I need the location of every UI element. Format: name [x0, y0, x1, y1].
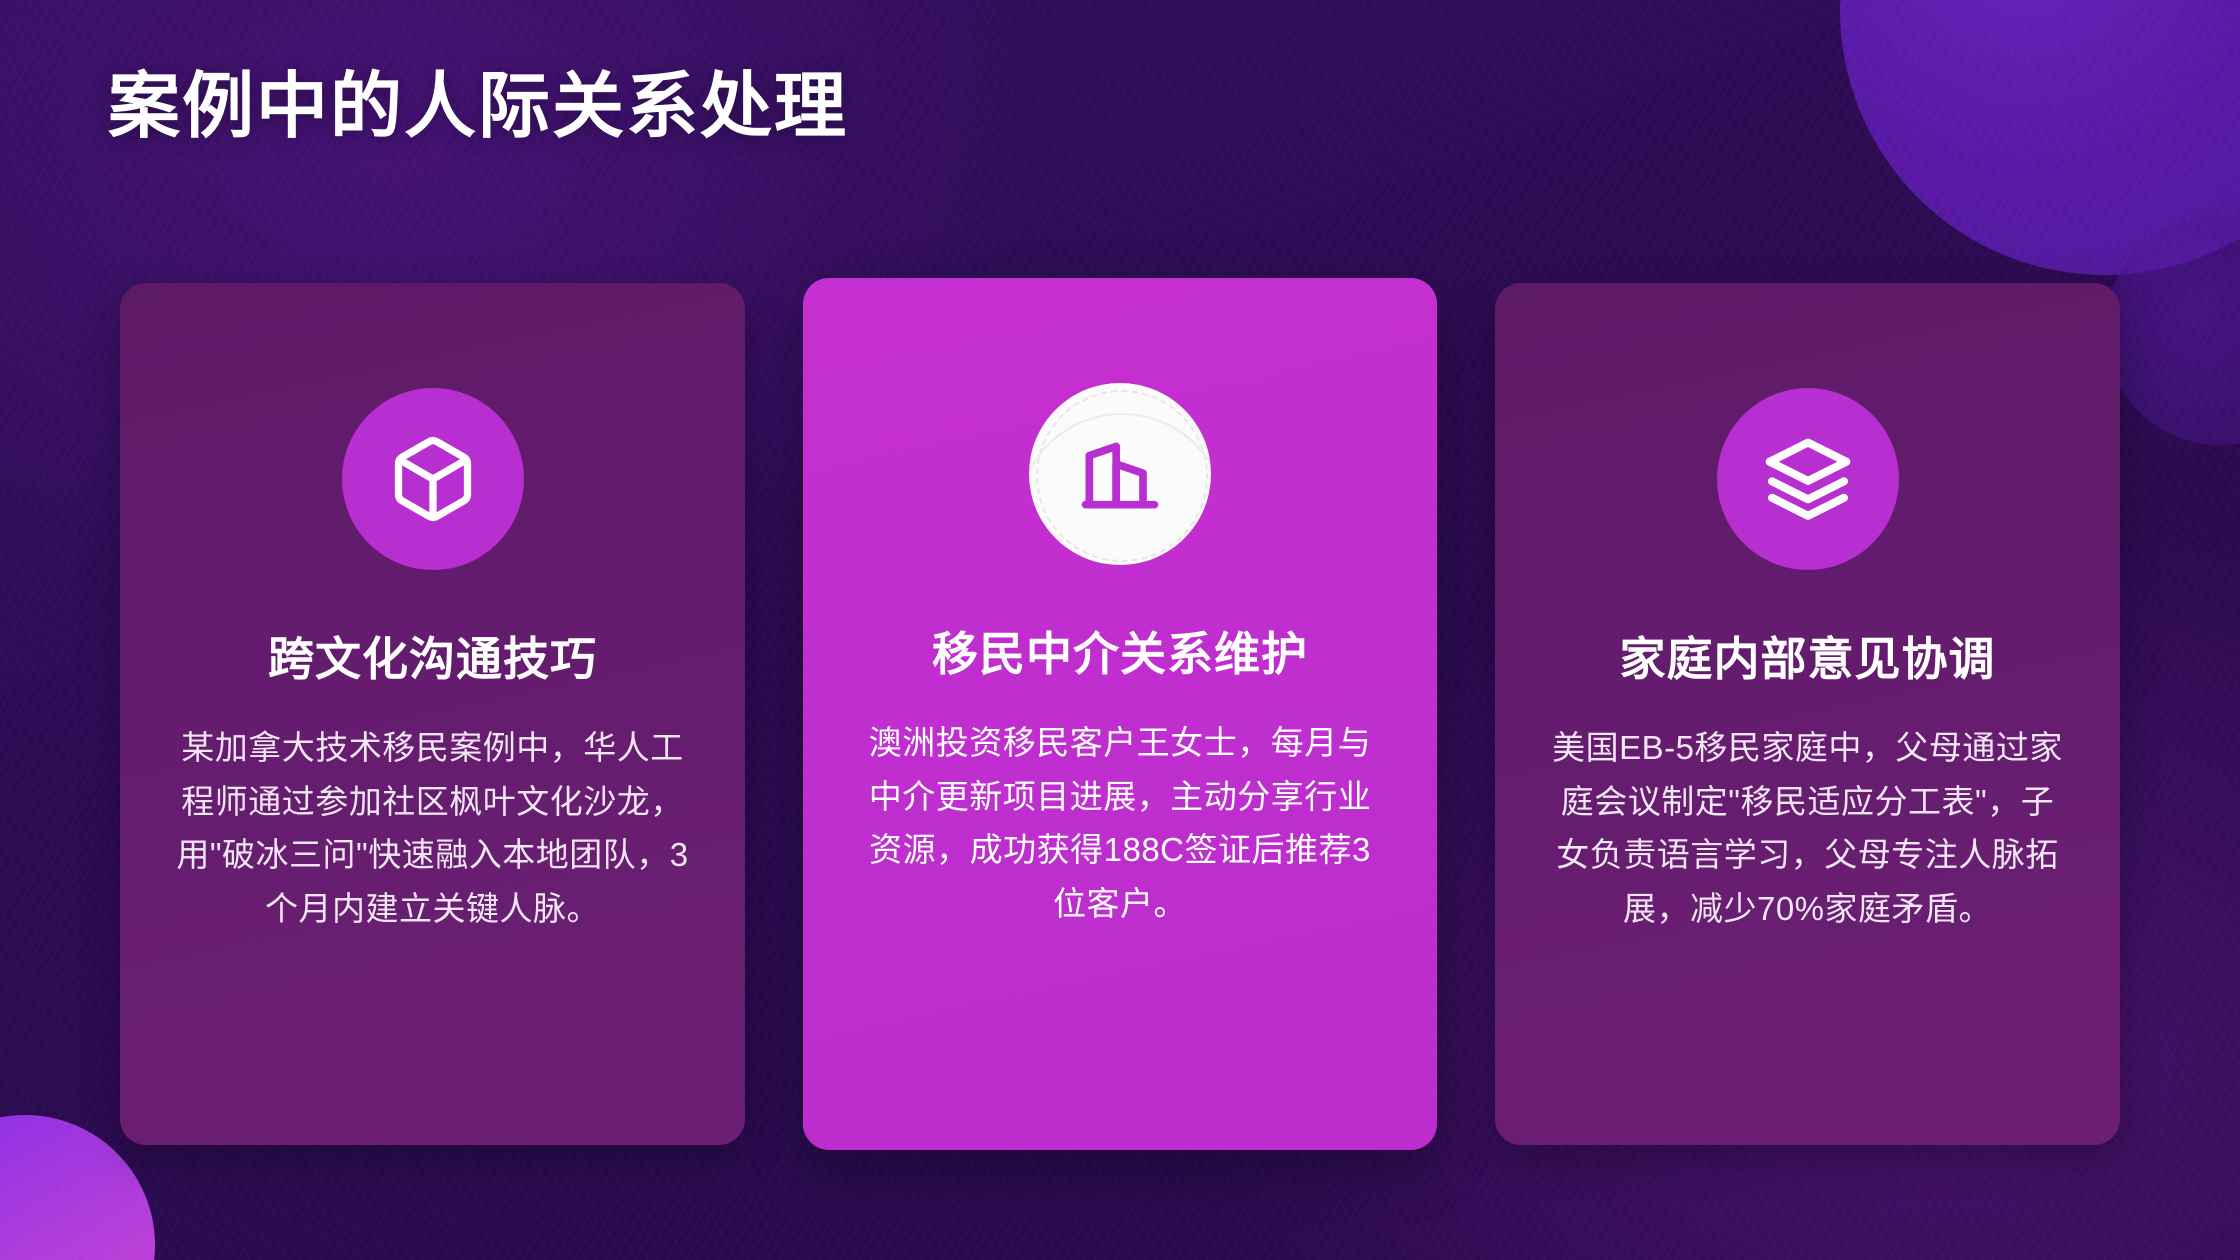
card-icon-container: [1029, 383, 1211, 565]
card-title: 跨文化沟通技巧: [268, 632, 597, 687]
decorative-circle-top-right: [1840, 0, 2240, 275]
page-title: 案例中的人际关系处理: [108, 68, 848, 147]
card-agency-relationship[interactable]: 移民中介关系维护 澳洲投资移民客户王女士，每月与中介更新项目进展，主动分享行业资…: [803, 278, 1437, 1150]
card-icon-container: [1717, 388, 1899, 570]
card-family-coordination[interactable]: 家庭内部意见协调 美国EB-5移民家庭中，父母通过家庭会议制定"移民适应分工表"…: [1495, 283, 2120, 1145]
card-list: 跨文化沟通技巧 某加拿大技术移民案例中，华人工程师通过参加社区枫叶文化沙龙，用"…: [120, 283, 2120, 1163]
decorative-circle-top-right-small: [2105, 215, 2240, 445]
layers-icon: [1762, 433, 1854, 525]
card-cross-cultural-communication[interactable]: 跨文化沟通技巧 某加拿大技术移民案例中，华人工程师通过参加社区枫叶文化沙龙，用"…: [120, 283, 745, 1145]
card-body: 某加拿大技术移民案例中，华人工程师通过参加社区枫叶文化沙龙，用"破冰三问"快速融…: [173, 721, 693, 935]
card-body: 澳洲投资移民客户王女士，每月与中介更新项目进展，主动分享行业资源，成功获得188…: [855, 716, 1385, 930]
card-title: 移民中介关系维护: [932, 627, 1308, 682]
card-body: 美国EB-5移民家庭中，父母通过家庭会议制定"移民适应分工表"，子女负责语言学习…: [1548, 721, 2068, 935]
cube-icon: [387, 433, 479, 525]
buildings-icon: [1074, 428, 1166, 520]
card-icon-container: [342, 388, 524, 570]
card-title: 家庭内部意见协调: [1620, 632, 1996, 687]
